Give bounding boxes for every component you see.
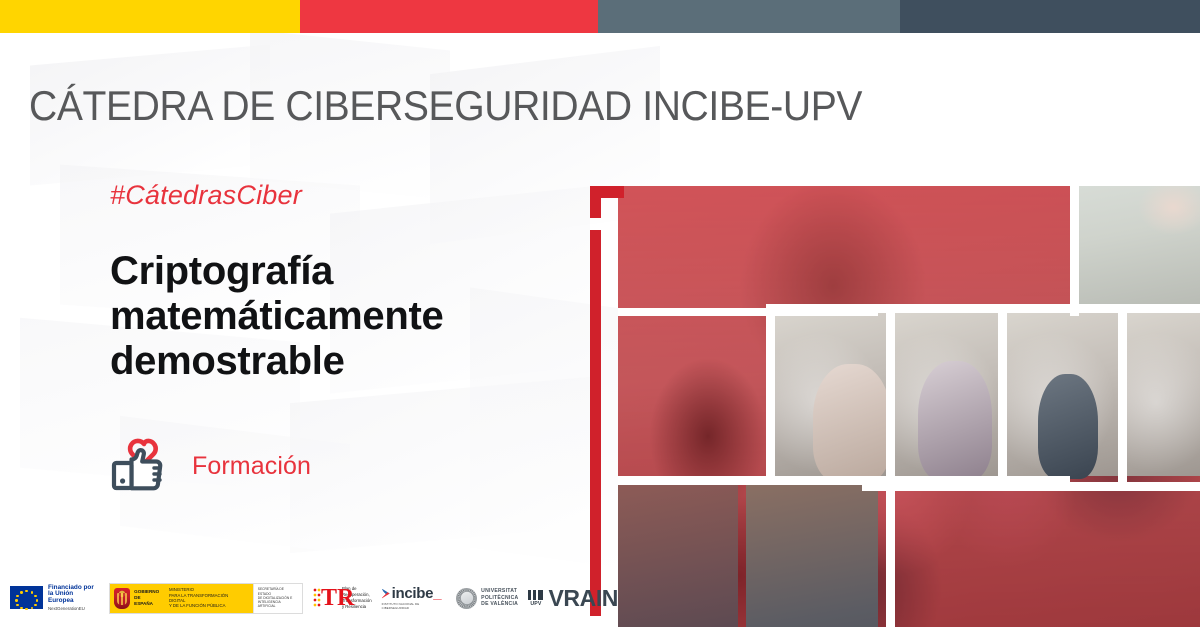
eu-line-3: NextGenerationEU <box>48 607 99 612</box>
headline: Criptografía matemáticamente demostrable <box>110 249 570 383</box>
ministerio-label: MINISTERIO PARA LA TRANSFORMACIÓN DIGITA… <box>164 587 249 608</box>
photo-collage <box>618 186 1200 627</box>
logo-gobierno-de-espana: GOBIERNO DE ESPAÑA MINISTERIO PARA LA TR… <box>109 583 303 614</box>
gobierno-label: GOBIERNO DE ESPAÑA <box>134 589 160 606</box>
thumbs-up-heart-icon <box>110 435 174 497</box>
incibe-mark-icon <box>382 589 390 599</box>
incibe-wordmark: incibe_ <box>392 586 442 601</box>
topbar-segment-slate <box>598 0 900 33</box>
upv-label: UNIVERSITAT POLITÈCNICA DE VALÈNCIA <box>481 588 518 609</box>
incibe-word: incibe <box>392 585 434 602</box>
secretaria-label: SECRETARÍA DE ESTADO DE DIGITALIZACIÓN E… <box>258 587 298 608</box>
upv-seal-icon <box>456 588 477 609</box>
logo-vrain: UPV VRAIN <box>528 587 618 610</box>
topbar-segment-navy <box>900 0 1200 33</box>
page-title: CÁTEDRA DE CIBERSEGURIDAD INCIBE-UPV <box>29 82 862 130</box>
topbar-segment-red <box>300 0 598 33</box>
eu-flag-icon <box>10 586 43 609</box>
logo-european-union: Financiado por la Unión Europea NextGene… <box>10 585 99 612</box>
top-color-bar <box>0 0 1200 33</box>
coat-of-arms-icon <box>114 588 131 609</box>
collage-grid-lines <box>618 186 1200 627</box>
tr-mark-icon: TR <box>313 585 338 611</box>
upv-bars-icon <box>528 590 543 600</box>
logo-universitat-politecnica-valencia: UNIVERSITAT POLITÈCNICA DE VALÈNCIA <box>456 588 518 609</box>
topbar-segment-yellow <box>0 0 300 33</box>
vrain-upv-label: UPV <box>530 601 541 607</box>
slide-canvas: CÁTEDRA DE CIBERSEGURIDAD INCIBE-UPV #Cá… <box>0 0 1200 627</box>
logo-incibe: incibe_ INSTITUTO NACIONAL DE CIBERSEGUR… <box>382 586 447 610</box>
incibe-subtitle: INSTITUTO NACIONAL DE CIBERSEGURIDAD <box>382 602 447 610</box>
logo-plan-de-recuperacion: TR Plan de Recuperación, Transformación … <box>313 585 372 611</box>
hashtag-label: #CátedrasCiber <box>110 180 580 211</box>
vrain-wordmark: VRAIN <box>548 587 618 610</box>
category-label: Formación <box>192 452 311 481</box>
category-row: Formación <box>110 435 580 497</box>
footer-logo-strip: Financiado por la Unión Europea NextGene… <box>0 569 618 627</box>
incibe-underscore: _ <box>433 585 441 602</box>
tr-letter: TR <box>321 586 354 610</box>
eu-line-2: la Unión Europea <box>48 591 99 605</box>
content-column: #CátedrasCiber Criptografía matemáticame… <box>110 180 580 497</box>
